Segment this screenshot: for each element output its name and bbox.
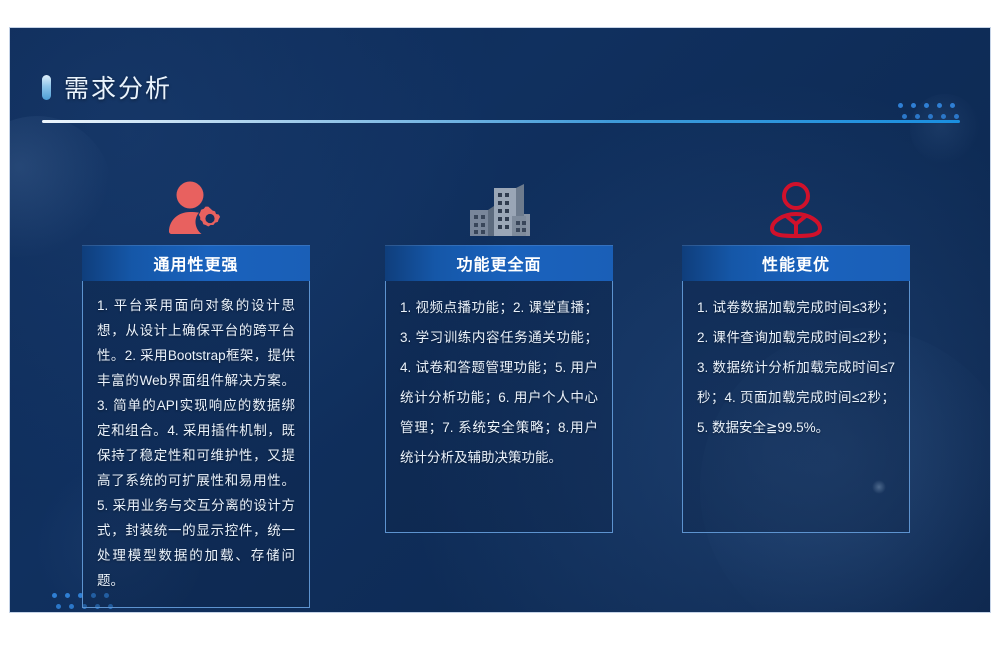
dot-grid-decoration-top-right (894, 100, 959, 122)
business-person-icon (682, 173, 910, 245)
card-body-3: 1. 试卷数据加载完成时间≤3秒；2. 课件查询加载完成时间≤2秒；3. 数据统… (682, 281, 910, 533)
slide-canvas: 需求分析 通用性更强 1. 平台采用面向对象的设计思想，从设计上确保平台的跨平台… (10, 28, 990, 612)
user-settings-icon (82, 173, 310, 245)
card-heading-3: 性能更优 (682, 245, 910, 281)
card-heading-1: 通用性更强 (82, 245, 310, 281)
feature-column-1: 通用性更强 1. 平台采用面向对象的设计思想，从设计上确保平台的跨平台性。2. … (82, 173, 310, 608)
title-marker-icon (42, 75, 51, 100)
feature-column-2: 功能更全面 1. 视频点播功能；2. 课堂直播；3. 学习训练内容任务通关功能；… (385, 173, 613, 533)
card-body-1: 1. 平台采用面向对象的设计思想，从设计上确保平台的跨平台性。2. 采用Boot… (82, 281, 310, 608)
card-text-3: 1. 试卷数据加载完成时间≤3秒；2. 课件查询加载完成时间≤2秒；3. 数据统… (697, 293, 895, 443)
page-title-row: 需求分析 (42, 68, 960, 106)
title-underline-divider (42, 120, 960, 123)
card-text-1: 1. 平台采用面向对象的设计思想，从设计上确保平台的跨平台性。2. 采用Boot… (97, 293, 295, 593)
card-body-2: 1. 视频点播功能；2. 课堂直播；3. 学习训练内容任务通关功能；4. 试卷和… (385, 281, 613, 533)
slide-header: 需求分析 (42, 68, 960, 130)
card-heading-2: 功能更全面 (385, 245, 613, 281)
office-buildings-icon (385, 173, 613, 245)
card-text-2: 1. 视频点播功能；2. 课堂直播；3. 学习训练内容任务通关功能；4. 试卷和… (400, 293, 598, 473)
feature-column-3: 性能更优 1. 试卷数据加载完成时间≤3秒；2. 课件查询加载完成时间≤2秒；3… (682, 173, 910, 533)
page-title: 需求分析 (64, 69, 172, 105)
